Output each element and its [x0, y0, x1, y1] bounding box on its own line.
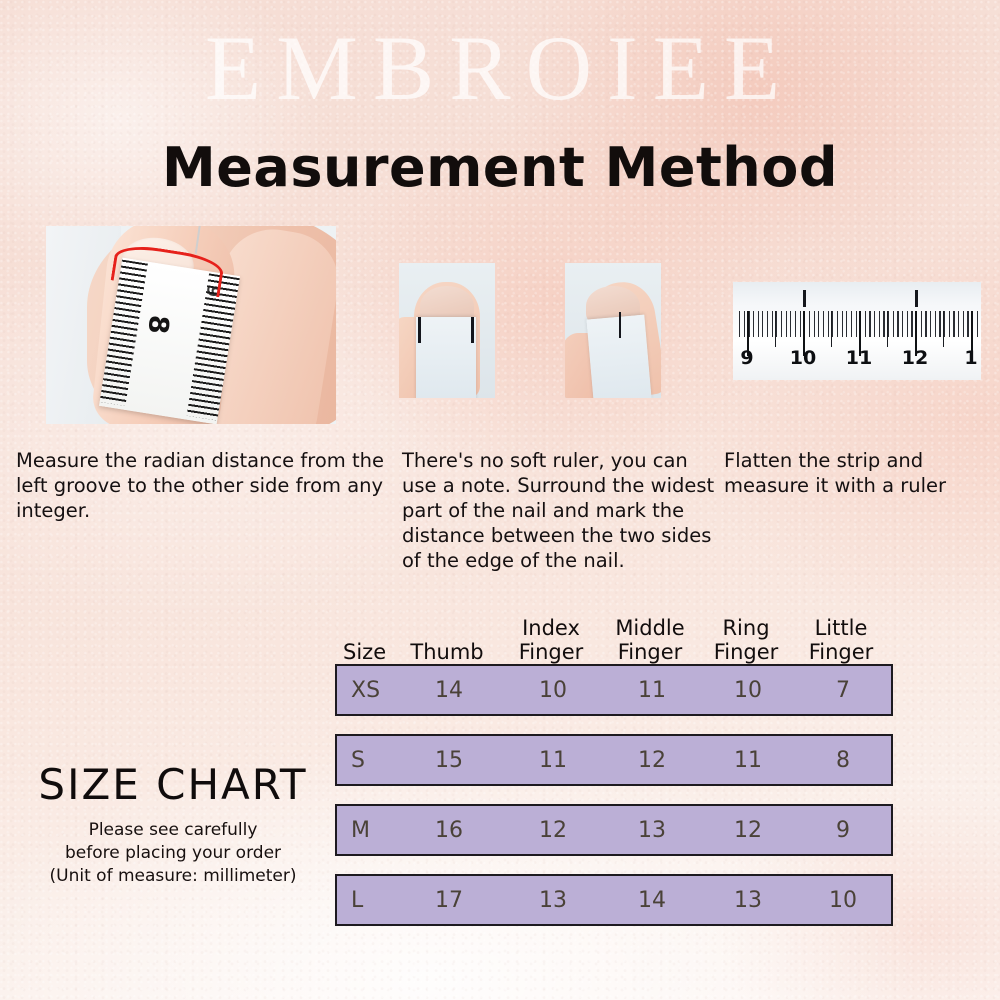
table-cell: 13 [701, 888, 795, 913]
table-cell: 17 [395, 888, 503, 913]
paper-strip [416, 317, 476, 398]
photo-ruler: 91011121 [733, 282, 981, 380]
table-header-row: SizeThumbIndex FingerMiddle FingerRing F… [335, 612, 893, 664]
ruler-tick-label: 9 [740, 347, 753, 369]
table-cell: 8 [795, 748, 891, 773]
strip-mark-left [418, 317, 421, 343]
ruler-minor-tick [814, 311, 815, 336]
table-cell: 14 [395, 678, 503, 703]
ruler-minor-tick [869, 311, 870, 336]
ruler-minor-tick [758, 311, 759, 336]
photo-finger-with-tape-measure: 8 9 [46, 226, 336, 424]
table-body: XS141011107S151112118M161213129L17131413… [335, 664, 893, 926]
ruler-minor-tick [781, 311, 782, 336]
ruler-minor-tick [902, 311, 903, 336]
table-cell: M [337, 818, 395, 843]
table-header-cell: Size [335, 640, 393, 664]
size-chart-heading-block: SIZE CHART Please see carefully before p… [18, 760, 328, 888]
ruler-minor-tick [823, 311, 824, 336]
ruler-minor-tick [828, 311, 829, 336]
table-cell: 10 [795, 888, 891, 913]
ruler-body: 91011121 [733, 282, 981, 380]
ruler-minor-tick [883, 311, 884, 336]
ruler-minor-tick [977, 311, 978, 336]
table-row: L1713141310 [335, 874, 893, 926]
ruler-strip-mark [803, 290, 806, 308]
ruler-minor-tick [930, 311, 931, 336]
ruler-minor-tick [939, 311, 940, 336]
ruler-minor-tick [790, 311, 791, 336]
ruler-half-tick [943, 311, 944, 346]
ruler-minor-tick [776, 311, 777, 336]
instruction-2: There's no soft ruler, you can use a not… [402, 448, 722, 573]
table-cell: 13 [503, 888, 603, 913]
ruler-minor-tick [879, 311, 880, 336]
table-row: M161213129 [335, 804, 893, 856]
table-header-cell: Middle Finger [601, 616, 699, 664]
table-header-cell: Index Finger [501, 616, 601, 664]
ruler-minor-tick [837, 311, 838, 336]
table-cell: XS [337, 678, 395, 703]
ruler-minor-tick [865, 311, 866, 336]
ruler-tick-label: 11 [846, 347, 872, 369]
size-chart-subtitle: Please see carefully before placing your… [18, 819, 328, 888]
table-row: XS141011107 [335, 664, 893, 716]
photo-nail-with-paper-strip-front [399, 263, 495, 398]
ruler-minor-tick [832, 311, 833, 336]
ruler-minor-tick [795, 311, 796, 336]
ruler-minor-tick [935, 311, 936, 336]
ruler-minor-tick [897, 311, 898, 336]
table-cell: 11 [503, 748, 603, 773]
ruler-minor-tick [800, 311, 801, 336]
ruler-tick-label: 1 [964, 347, 977, 369]
table-cell: 14 [603, 888, 701, 913]
table-cell: 10 [701, 678, 795, 703]
table-cell: 10 [503, 678, 603, 703]
table-cell: 16 [395, 818, 503, 843]
table-cell: 11 [701, 748, 795, 773]
ruler-minor-tick [842, 311, 843, 336]
strip-mark-right [619, 312, 622, 338]
ruler-tick-label: 10 [790, 347, 816, 369]
tape-number: 8 [141, 313, 174, 334]
ruler-minor-tick [893, 311, 894, 336]
table-header-cell: Ring Finger [699, 616, 793, 664]
ruler-minor-tick [856, 311, 857, 336]
ruler-minor-tick [772, 311, 773, 336]
instruction-3: Flatten the strip and measure it with a … [724, 448, 994, 498]
ruler-minor-tick [953, 311, 954, 336]
table-cell: 12 [603, 748, 701, 773]
ruler-minor-tick [739, 311, 740, 336]
ruler-minor-tick [767, 311, 768, 336]
table-header-cell: Thumb [393, 640, 501, 664]
ruler-minor-tick [786, 311, 787, 336]
table-cell: L [337, 888, 395, 913]
ruler-half-tick [775, 311, 776, 346]
table-cell: 13 [603, 818, 701, 843]
ruler-minor-tick [967, 311, 968, 336]
table-header-cell: Little Finger [793, 616, 889, 664]
ruler-tick-label: 12 [902, 347, 928, 369]
table-cell: 7 [795, 678, 891, 703]
size-chart-table: SizeThumbIndex FingerMiddle FingerRing F… [335, 612, 893, 926]
ruler-minor-tick [958, 311, 959, 336]
table-cell: 12 [503, 818, 603, 843]
ruler-minor-tick [846, 311, 847, 336]
ruler-minor-tick [744, 311, 745, 336]
table-cell: S [337, 748, 395, 773]
ruler-minor-tick [911, 311, 912, 336]
table-cell: 9 [795, 818, 891, 843]
ruler-minor-tick [874, 311, 875, 336]
size-chart-title: SIZE CHART [18, 760, 328, 809]
photo-nail-with-paper-strip-side [565, 263, 661, 398]
brand-watermark: EMBROIEE [0, 22, 1000, 114]
ruler-minor-tick [818, 311, 819, 336]
ruler-minor-tick [753, 311, 754, 336]
strip-mark-right [471, 317, 474, 343]
ruler-minor-tick [925, 311, 926, 336]
table-cell: 12 [701, 818, 795, 843]
ruler-minor-tick [921, 311, 922, 336]
table-cell: 11 [603, 678, 701, 703]
ruler-half-tick [887, 311, 888, 346]
ruler-minor-tick [851, 311, 852, 336]
ruler-minor-tick [809, 311, 810, 336]
ruler-minor-tick [963, 311, 964, 336]
page-title: Measurement Method [0, 136, 1000, 199]
ruler-minor-tick [762, 311, 763, 336]
size-chart-infographic: EMBROIEE Measurement Method 8 9 [0, 0, 1000, 1000]
ruler-strip-mark [915, 290, 918, 308]
table-cell: 15 [395, 748, 503, 773]
ruler-half-tick [831, 311, 832, 346]
ruler-minor-tick [907, 311, 908, 336]
ruler-minor-tick [949, 311, 950, 336]
table-row: S151112118 [335, 734, 893, 786]
instruction-1: Measure the radian distance from the lef… [16, 448, 396, 523]
